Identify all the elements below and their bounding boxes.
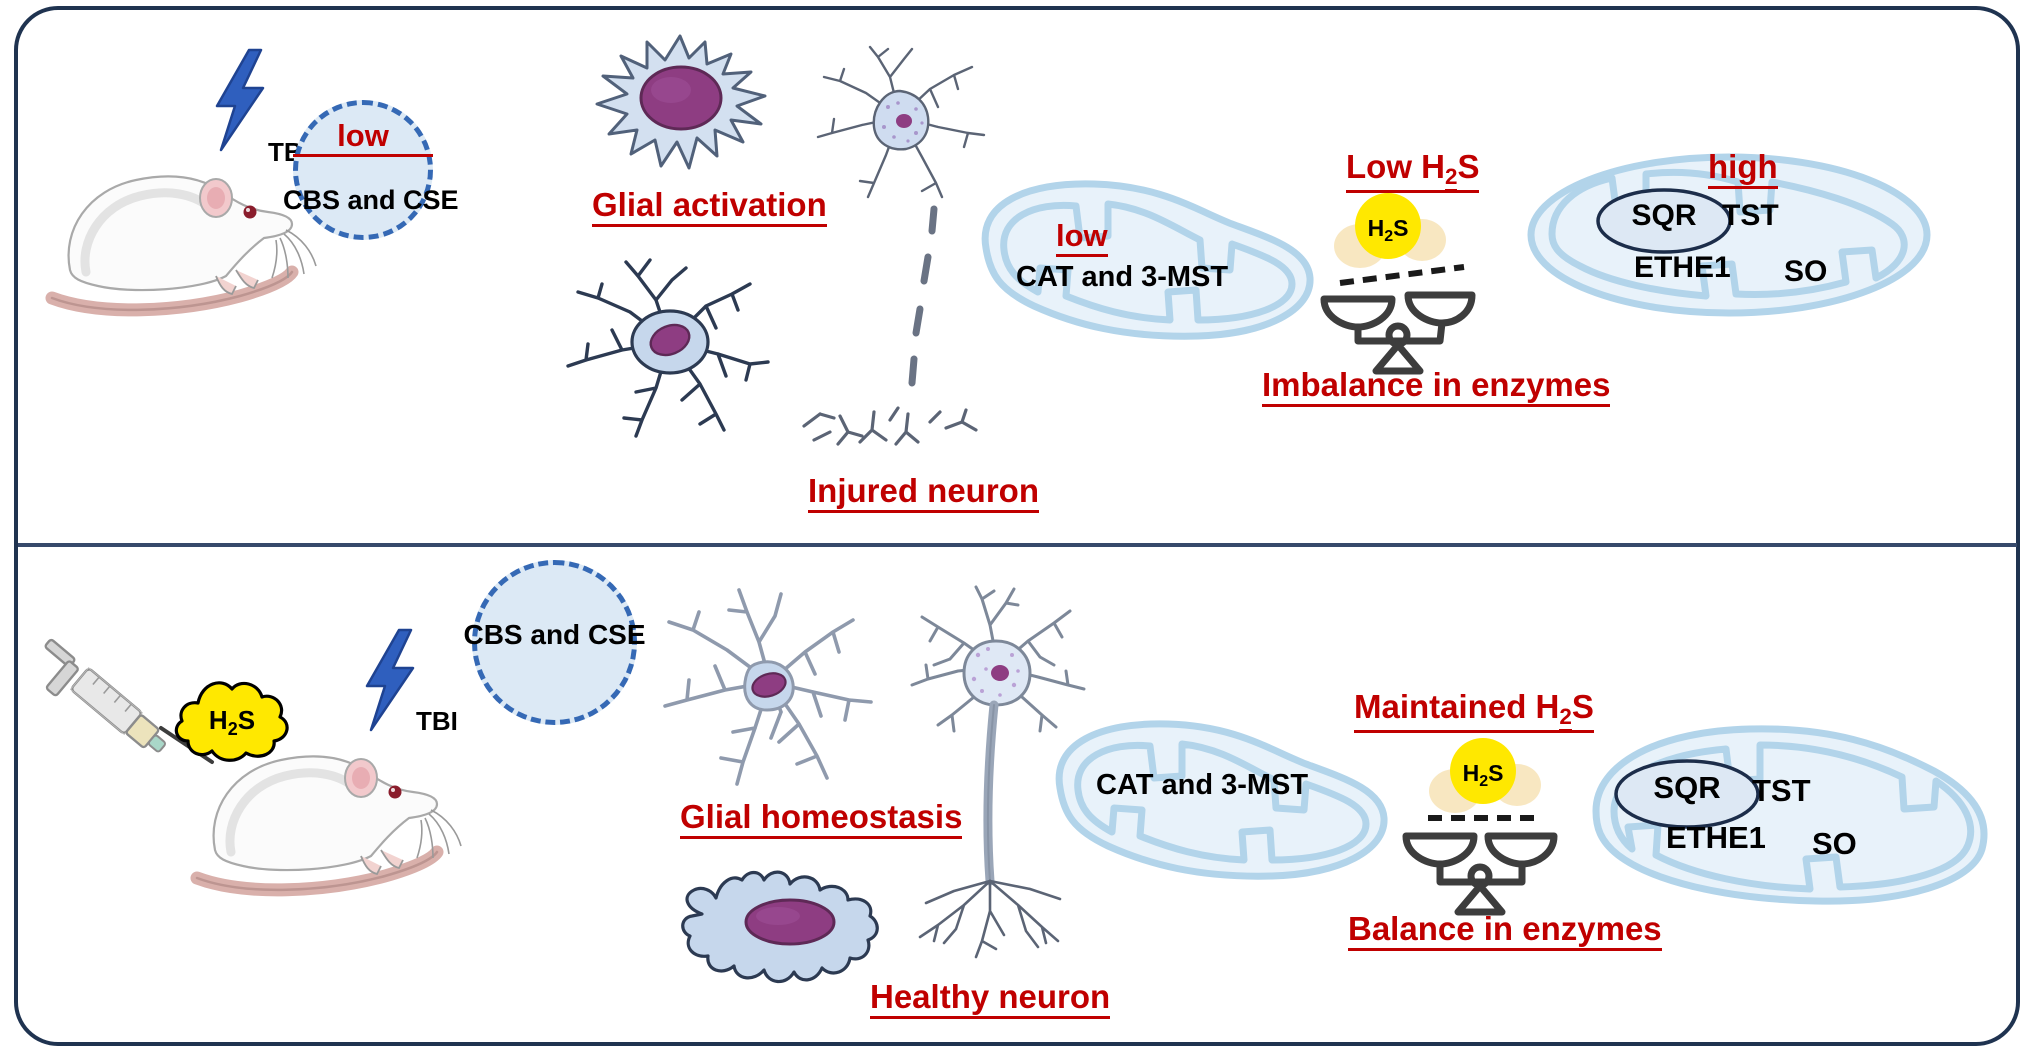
balance-scale-level-icon: [1400, 810, 1560, 918]
tbi-label-bottom: TBI: [416, 708, 458, 735]
balance-label: Balance in enzymes: [1348, 912, 1662, 951]
enzyme-circle-text-bottom: CBS and CSE: [462, 620, 647, 649]
healthy-neuron-label: Healthy neuron: [870, 980, 1110, 1019]
sqr-label-bottom: SQR: [1612, 772, 1762, 805]
h2s-status-title-bottom: Maintained H: [1354, 688, 1559, 725]
resting-microglia-icon: [655, 578, 885, 798]
h2s-bubble-bottom: H2S: [1425, 735, 1545, 817]
h2s-status-sub-bottom: 2: [1559, 704, 1571, 732]
graphical-abstract-figure: TBI low CBS and CSE Glial activation: [0, 0, 2033, 1058]
tst-label-bottom: TST: [1752, 775, 1811, 808]
panel-tbi-h2s-treated: H2S: [0, 0, 2033, 1058]
h2s-status-label-bottom: Maintained H2S: [1354, 690, 1594, 733]
ethe1-label-bottom: ETHE1: [1666, 822, 1766, 855]
oligodendrocyte-icon: [668, 852, 898, 1002]
so-label-bottom: SO: [1812, 828, 1857, 861]
lightning-bolt-icon-bottom: [355, 628, 425, 733]
mitochondrion-left-text-bottom: CAT and 3-MST: [1096, 770, 1308, 800]
